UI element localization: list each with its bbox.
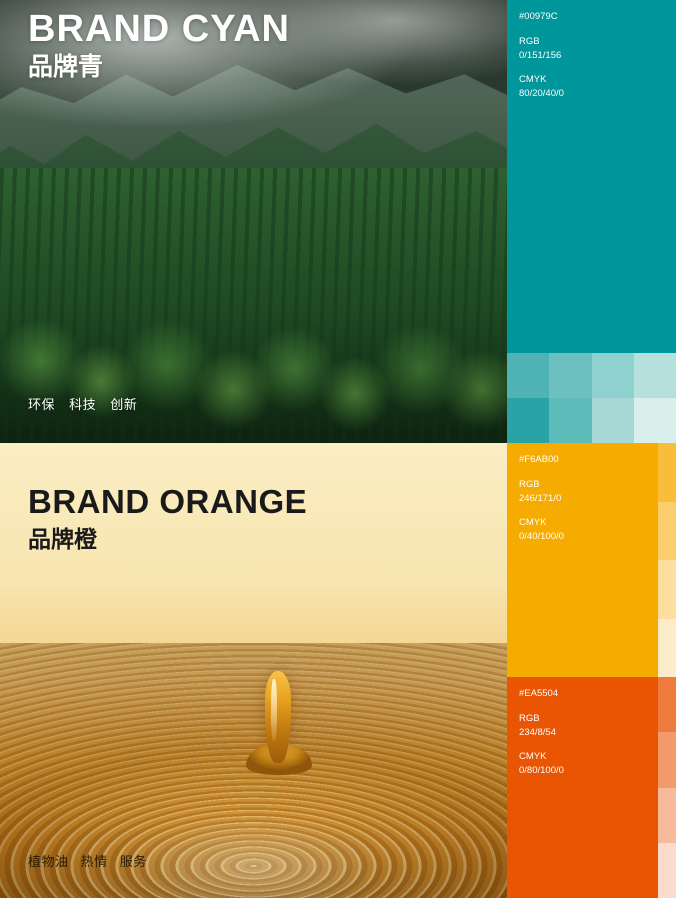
cyan-cmyk-row: CMYK 80/20/40/0 — [519, 73, 664, 101]
orange-cmyk-value: 0/40/100/0 — [519, 530, 664, 544]
orange-tint-swatch-3 — [658, 560, 676, 619]
cyan-rgb-label: RGB — [519, 35, 664, 49]
orange-cmyk-label: CMYK — [519, 516, 664, 530]
red-tint-swatch-3 — [658, 788, 676, 843]
red-hex-row: #EA5504 — [519, 687, 664, 701]
orange-keyword-2: 热情 — [81, 854, 108, 869]
cyan-tint-swatch-8 — [634, 398, 676, 443]
orange-keywords: 植物油 热情 服务 — [28, 851, 155, 870]
cyan-title-cn: 品牌青 — [28, 55, 290, 80]
red-rgb-label: RGB — [519, 712, 664, 726]
orange-keyword-3: 服务 — [120, 854, 147, 869]
orange-tint-swatch-2 — [658, 502, 676, 561]
cyan-rgb-row: RGB 0/151/156 — [519, 35, 664, 63]
orange-title-block: BRAND ORANGE 品牌橙 — [28, 485, 307, 551]
orange-tint-swatch-4 — [658, 619, 676, 678]
cyan-tint-grid — [507, 353, 676, 443]
oil-column-splash — [265, 671, 291, 763]
red-cmyk-label: CMYK — [519, 750, 664, 764]
cyan-tint-swatch-4 — [634, 353, 676, 398]
red-tint-swatch-2 — [658, 732, 676, 787]
orange-swatch-panel: #F6AB00 RGB 246/171/0 CMYK 0/40/100/0 — [507, 443, 676, 677]
red-tint-swatch-1 — [658, 677, 676, 732]
orange-rgb-label: RGB — [519, 478, 664, 492]
cyan-tint-swatch-5 — [507, 398, 549, 443]
orange-tint-column — [658, 443, 676, 677]
red-swatch-panel: #EA5504 RGB 234/8/54 CMYK 0/80/100/0 — [507, 677, 676, 898]
orange-title-en: BRAND ORANGE — [28, 485, 307, 518]
orange-title-cn: 品牌橙 — [28, 528, 307, 551]
cyan-keyword-3: 创新 — [110, 397, 137, 412]
red-swatch-info: #EA5504 RGB 234/8/54 CMYK 0/80/100/0 — [507, 677, 676, 778]
red-cmyk-row: CMYK 0/80/100/0 — [519, 750, 664, 778]
cyan-cmyk-label: CMYK — [519, 73, 664, 87]
cyan-keyword-1: 环保 — [28, 397, 55, 412]
red-cmyk-value: 0/80/100/0 — [519, 764, 664, 778]
orange-tint-swatch-1 — [658, 443, 676, 502]
red-rgb-row: RGB 234/8/54 — [519, 712, 664, 740]
orange-hex-value: #F6AB00 — [519, 453, 664, 467]
cyan-title-block: BRAND CYAN 品牌青 — [28, 10, 290, 80]
orange-cmyk-row: CMYK 0/40/100/0 — [519, 516, 664, 544]
cyan-keyword-2: 科技 — [69, 397, 96, 412]
cyan-tint-swatch-1 — [507, 353, 549, 398]
red-tint-swatch-4 — [658, 843, 676, 898]
cyan-tint-swatch-2 — [549, 353, 591, 398]
cyan-tint-swatch-6 — [549, 398, 591, 443]
red-rgb-value: 234/8/54 — [519, 726, 664, 740]
orange-rgb-value: 246/171/0 — [519, 492, 664, 506]
orange-rgb-row: RGB 246/171/0 — [519, 478, 664, 506]
cyan-tint-swatch-3 — [592, 353, 634, 398]
cyan-cmyk-value: 80/20/40/0 — [519, 87, 664, 101]
cyan-title-en: BRAND CYAN — [28, 10, 290, 48]
cyan-section: BRAND CYAN 品牌青 环保 科技 创新 #00979C RGB 0/15… — [0, 0, 676, 443]
palette-board-page: BRAND CYAN 品牌青 环保 科技 创新 #00979C RGB 0/15… — [0, 0, 676, 898]
cyan-swatch-info: #00979C RGB 0/151/156 CMYK 80/20/40/0 — [507, 0, 676, 101]
orange-swatch-info: #F6AB00 RGB 246/171/0 CMYK 0/40/100/0 — [507, 443, 676, 544]
orange-keyword-1: 植物油 — [28, 854, 69, 869]
cyan-tint-swatch-7 — [592, 398, 634, 443]
cyan-hex-row: #00979C — [519, 10, 664, 24]
cyan-hex-value: #00979C — [519, 10, 664, 24]
cyan-swatch-panel: #00979C RGB 0/151/156 CMYK 80/20/40/0 — [507, 0, 676, 353]
red-tint-column — [658, 677, 676, 898]
red-hex-value: #EA5504 — [519, 687, 664, 701]
oil-column-highlight — [271, 679, 277, 741]
cyan-rgb-value: 0/151/156 — [519, 49, 664, 63]
orange-hex-row: #F6AB00 — [519, 453, 664, 467]
cyan-keywords: 环保 科技 创新 — [28, 394, 147, 413]
